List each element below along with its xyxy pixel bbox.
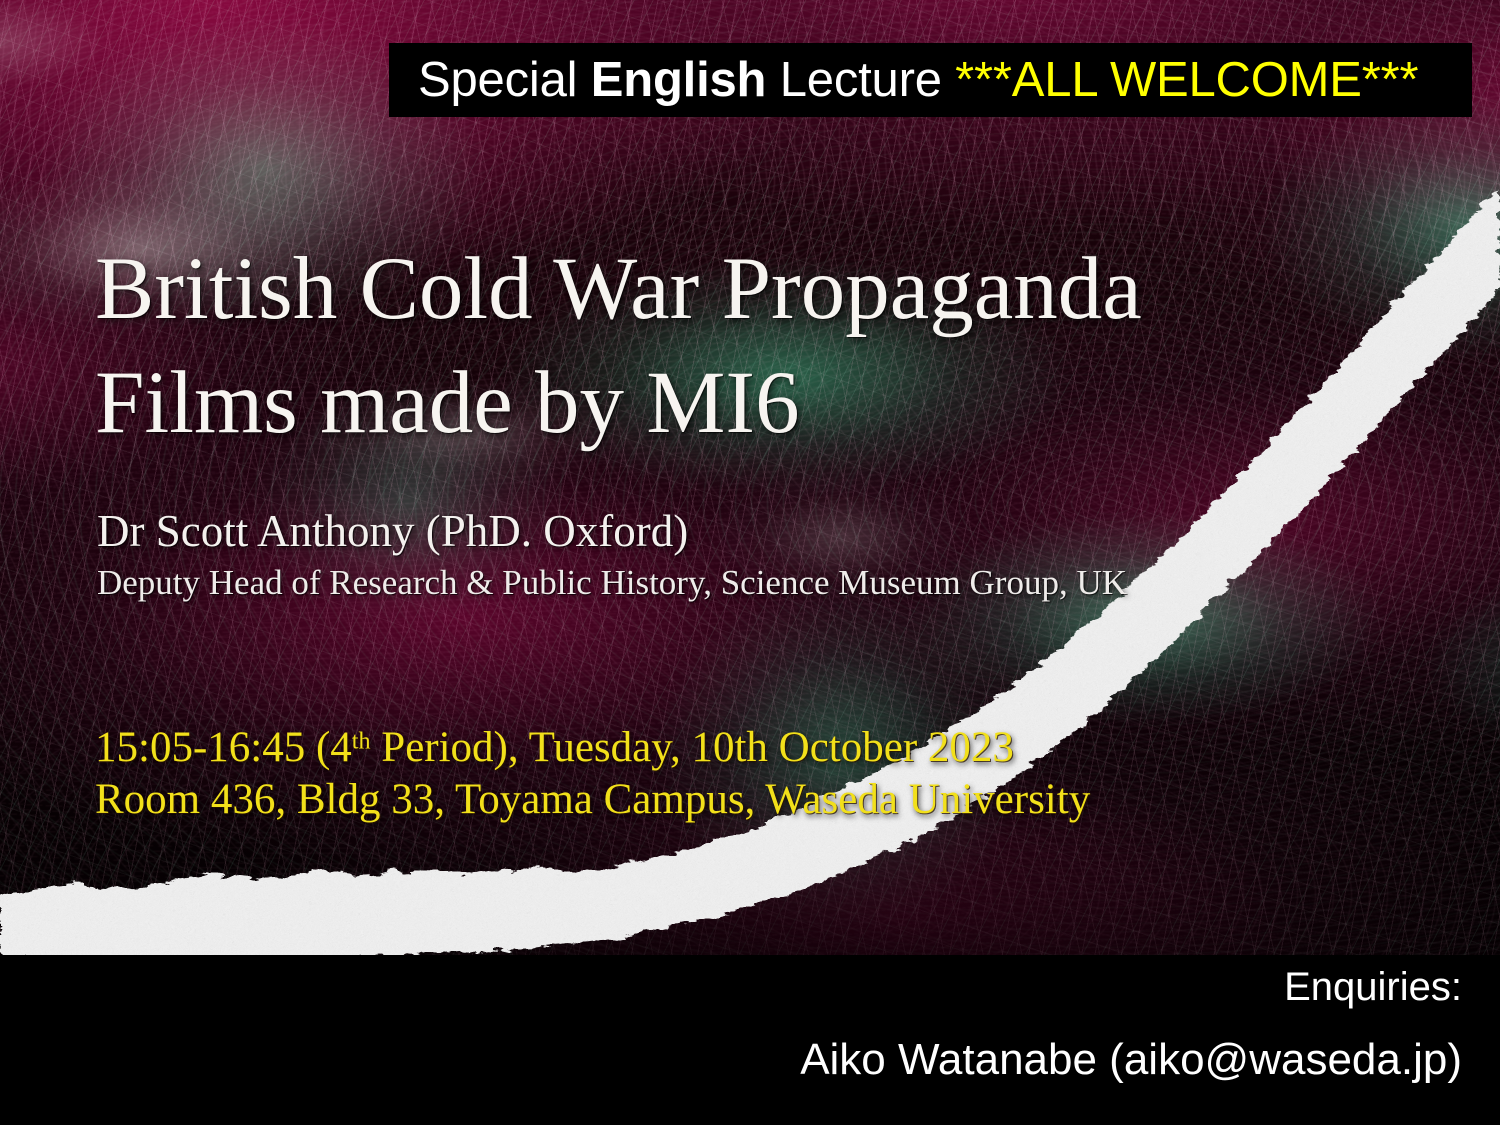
- event-datetime: 15:05-16:45 (4th Period), Tuesday, 10th …: [95, 722, 1425, 774]
- speaker-affiliation: Deputy Head of Research & Public History…: [97, 558, 1427, 607]
- enquiries-contact: Aiko Watanabe (aiko@waseda.jp): [800, 1037, 1462, 1083]
- event-details: 15:05-16:45 (4th Period), Tuesday, 10th …: [95, 722, 1425, 827]
- lecture-poster: Special English Lecture ***ALL WELCOME**…: [0, 0, 1500, 1125]
- event-time-prefix: 15:05-16:45 (4: [95, 724, 352, 771]
- speaker-name: Dr Scott Anthony (PhD. Oxford): [97, 505, 1427, 558]
- event-time-suffix: Period), Tuesday, 10th October 2023: [371, 724, 1014, 771]
- banner-segment-special: Special: [418, 53, 591, 107]
- banner-segment-english: English: [591, 53, 767, 107]
- header-banner: Special English Lecture ***ALL WELCOME**…: [389, 43, 1472, 117]
- event-period-superscript: th: [352, 728, 371, 754]
- enquiries-label: Enquiries:: [800, 966, 1462, 1008]
- page-title: British Cold War Propaganda Films made b…: [95, 233, 1425, 461]
- title-line-2: Films made by MI6: [95, 347, 1425, 461]
- enquiries-block: Enquiries: Aiko Watanabe (aiko@waseda.jp…: [800, 966, 1462, 1083]
- banner-segment-lecture: Lecture: [766, 53, 955, 107]
- speaker-block: Dr Scott Anthony (PhD. Oxford) Deputy He…: [97, 505, 1427, 607]
- title-line-1: British Cold War Propaganda: [95, 233, 1425, 347]
- banner-segment-all-welcome: ***ALL WELCOME***: [955, 53, 1418, 107]
- event-venue: Room 436, Bldg 33, Toyama Campus, Waseda…: [95, 774, 1425, 826]
- header-banner-text: Special English Lecture ***ALL WELCOME**…: [418, 56, 1418, 105]
